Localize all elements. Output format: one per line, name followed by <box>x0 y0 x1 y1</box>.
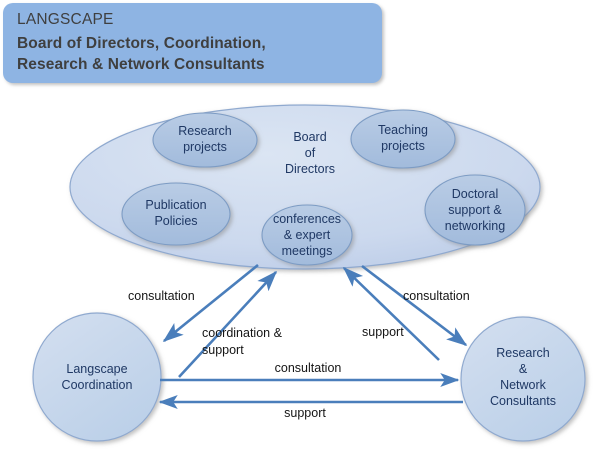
edge-label-consultants-to-coordination: support <box>250 405 360 422</box>
edge-label-coordination-to-board-line-1: coordination & <box>202 325 282 342</box>
edge-label-coordination-to-board-line-2: support <box>202 342 282 359</box>
edge-label-board-to-coordination: consultation <box>128 288 195 305</box>
edge-label-board-to-consultants: consultation <box>403 288 470 305</box>
research-projects-ellipse[interactable] <box>153 113 257 167</box>
teaching-projects-ellipse[interactable] <box>351 110 455 168</box>
diagram-root: LANGSCAPE Board of Directors, Coordinati… <box>0 0 605 454</box>
doctoral-support-networking-ellipse[interactable] <box>425 175 525 245</box>
edge-label-consultants-to-board: support <box>362 324 404 341</box>
diagram-canvas <box>0 0 605 454</box>
conferences-expert-meetings-ellipse[interactable] <box>262 205 352 265</box>
edge-label-coordination-to-consultants: consultation <box>238 360 378 377</box>
research-network-consultants-circle[interactable] <box>461 317 585 441</box>
publication-policies-ellipse[interactable] <box>122 183 230 245</box>
edge-label-coordination-to-board: coordination & support <box>202 325 282 359</box>
langscape-coordination-circle[interactable] <box>33 313 161 441</box>
